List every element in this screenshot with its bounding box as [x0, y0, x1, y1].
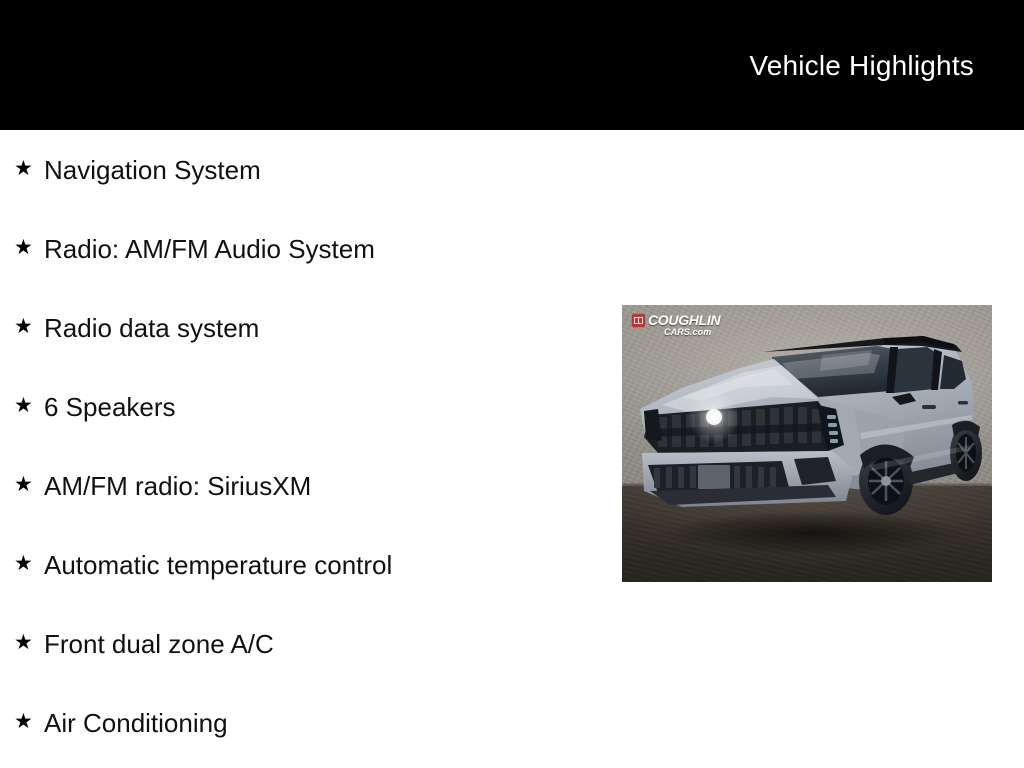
list-item: ★ Automatic temperature control — [0, 525, 620, 604]
vehicle-illustration — [622, 305, 992, 582]
list-item-label: Navigation System — [44, 155, 261, 185]
list-item-label: Air Conditioning — [44, 708, 228, 738]
vehicle-photo: COUGHLIN CARS.com — [622, 305, 992, 582]
list-item-label: Radio data system — [44, 313, 259, 343]
star-bullet-icon: ★ — [14, 553, 44, 574]
vehicle-highlights-list: ★ Navigation System ★ Radio: AM/FM Audio… — [0, 130, 620, 762]
star-bullet-icon: ★ — [14, 474, 44, 495]
list-item: ★ Air Conditioning — [0, 683, 620, 762]
list-item: ★ Radio data system — [0, 288, 620, 367]
list-item-label: AM/FM radio: SiriusXM — [44, 471, 311, 501]
list-item: ★ AM/FM radio: SiriusXM — [0, 446, 620, 525]
list-item-label: Front dual zone A/C — [44, 629, 274, 659]
star-bullet-icon: ★ — [14, 395, 44, 416]
star-bullet-icon: ★ — [14, 316, 44, 337]
list-item: ★ Navigation System — [0, 130, 620, 209]
list-item: ★ Radio: AM/FM Audio System — [0, 209, 620, 288]
watermark-brand-text: COUGHLIN — [648, 313, 720, 327]
header-bar: Vehicle Highlights — [0, 0, 1024, 130]
list-item: ★ Front dual zone A/C — [0, 604, 620, 683]
page-title: Vehicle Highlights — [749, 50, 974, 82]
star-bullet-icon: ★ — [14, 237, 44, 258]
watermark-sub-text: CARS.com — [664, 327, 711, 338]
list-item-label: Automatic temperature control — [44, 550, 392, 580]
list-item: ★ 6 Speakers — [0, 367, 620, 446]
star-bullet-icon: ★ — [14, 632, 44, 653]
list-item-label: Radio: AM/FM Audio System — [44, 234, 375, 264]
dealer-watermark: COUGHLIN CARS.com — [632, 313, 720, 338]
coughlin-logo-icon — [632, 314, 645, 327]
star-bullet-icon: ★ — [14, 711, 44, 732]
list-item-label: 6 Speakers — [44, 392, 176, 422]
star-bullet-icon: ★ — [14, 158, 44, 179]
